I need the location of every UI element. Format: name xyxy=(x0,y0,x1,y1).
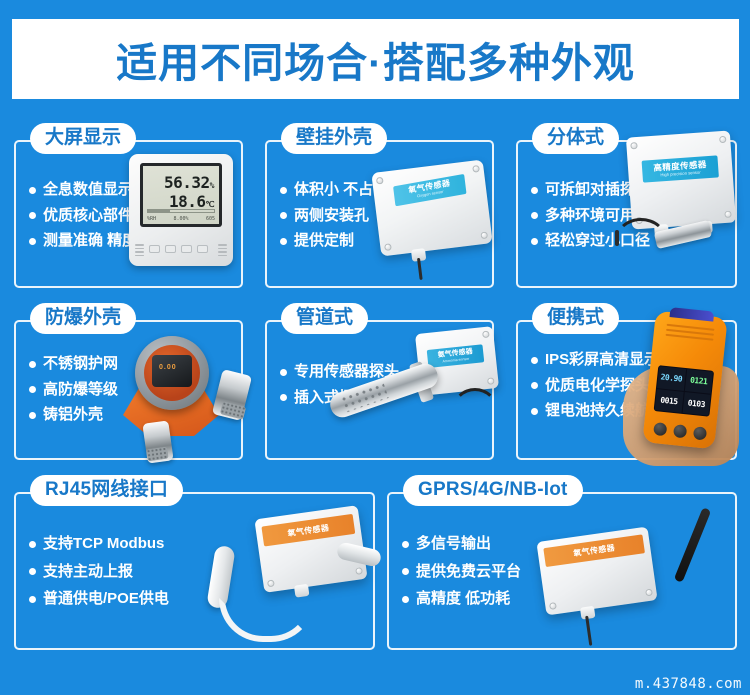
bullet-dot-icon xyxy=(280,394,287,401)
explosion-proof-body: 0.00 xyxy=(115,328,243,448)
connection-cord xyxy=(219,598,315,642)
bullet-dot-icon xyxy=(402,596,409,603)
bullet-dot-icon xyxy=(29,238,36,245)
list-item: 普通供电/POE供电 xyxy=(29,591,169,608)
bullet-dot-icon xyxy=(280,369,287,376)
bullet-list: 支持TCP Modbus 支持主动上报 普通供电/POE供电 xyxy=(29,536,169,608)
bullet-dot-icon xyxy=(280,187,287,194)
card-title: 壁挂外壳 xyxy=(281,123,387,154)
card-title: 大屏显示 xyxy=(30,123,136,154)
reading-cell: 20.90 xyxy=(657,366,686,390)
detector-top-cap xyxy=(669,307,714,322)
probe-vent-holes xyxy=(340,382,389,413)
detector-screen: 20.90 0121 0015 0103 xyxy=(654,365,715,417)
product-image-rj45-network-sensor: 氧气传感器 xyxy=(167,502,367,644)
bullet-label: 多种环境可用 xyxy=(545,208,635,225)
bullet-dot-icon xyxy=(531,357,538,364)
split-enclosure-body: 高精度传感器 High precision sensor xyxy=(626,130,736,229)
site-watermark: m.437848.com xyxy=(635,676,742,692)
bullet-dot-icon xyxy=(531,408,538,415)
detector-buttons xyxy=(653,422,707,440)
bullet-dot-icon xyxy=(531,238,538,245)
wireless-sensor-body: 氧气传感器 xyxy=(525,500,715,640)
screw-icon xyxy=(719,136,726,143)
screw-icon xyxy=(630,142,637,149)
feature-card-wall-mount: 壁挂外壳 体积小 不占空间 两侧安装孔 提供定制 氧气传感器 Oxygen se… xyxy=(265,140,494,288)
bullet-dot-icon xyxy=(29,361,36,368)
bullet-dot-icon xyxy=(29,187,36,194)
cable-wire xyxy=(585,616,592,646)
bullet-dot-icon xyxy=(29,541,36,548)
feature-card-large-display: 大屏显示 全息数值显示 优质核心部件 测量准确 精度高 56.32% 18.6℃ xyxy=(14,140,243,288)
bullet-label: 提供定制 xyxy=(294,233,354,250)
bullet-label: 优质核心部件 xyxy=(43,208,133,225)
rj45-sensor-body: 氧气传感器 xyxy=(167,502,367,644)
bullet-label: 高精度 低功耗 xyxy=(416,591,510,608)
wall-enclosure-body: 氧气传感器 Oxygen sensor xyxy=(371,159,492,256)
list-item: 高防爆等级 xyxy=(29,382,118,399)
bullet-dot-icon xyxy=(29,568,36,575)
bullet-dot-icon xyxy=(29,412,36,419)
feature-card-wireless: GPRS/4G/NB-Iot 多信号输出 提供免费云平台 高精度 低功耗 氧气传… xyxy=(387,492,737,650)
bullet-label: 普通供电/POE供电 xyxy=(43,591,169,608)
product-label: 高精度传感器 High precision sensor xyxy=(642,155,719,182)
product-image-portable-gas-detector: 20.90 0121 0015 0103 xyxy=(623,308,741,460)
portable-detector-body: 20.90 0121 0015 0103 xyxy=(623,308,741,460)
list-item: 铸铝外壳 xyxy=(29,407,118,424)
bullet-label: 多信号输出 xyxy=(416,536,491,553)
inner-ring: 0.00 xyxy=(144,345,200,401)
bullet-label: 支持主动上报 xyxy=(43,564,133,581)
page-title: 适用不同场合·搭配多种外观 xyxy=(116,29,635,89)
bullet-label: 高防爆等级 xyxy=(43,382,118,399)
card-title: 分体式 xyxy=(532,123,619,154)
list-item: 提供免费云平台 xyxy=(402,564,521,581)
bullet-label: 不锈钢护网 xyxy=(43,356,118,373)
product-label: 氧气传感器 xyxy=(261,514,355,547)
list-item: 不锈钢护网 xyxy=(29,356,118,373)
product-label-cn: 氧气传感器 xyxy=(287,522,330,539)
bullet-dot-icon xyxy=(29,596,36,603)
product-image-explosion-proof-housing: 0.00 xyxy=(115,328,243,448)
bullet-dot-icon xyxy=(29,212,36,219)
display-window: 0.00 xyxy=(152,355,192,387)
card-title: RJ45网线接口 xyxy=(30,475,183,506)
cable-wire xyxy=(615,230,619,246)
screw-icon xyxy=(482,330,490,338)
lcd-bezel: 56.32% 18.6℃ %RH 8.00% 605 xyxy=(140,163,222,227)
sensor-enclosure: 氧气传感器 xyxy=(536,527,657,616)
vent-left-icon xyxy=(135,244,144,258)
sensor-cable xyxy=(452,388,498,416)
bullet-dot-icon xyxy=(402,541,409,548)
feature-card-rj45: RJ45网线接口 支持TCP Modbus 支持主动上报 普通供电/POE供电 … xyxy=(14,492,375,650)
product-label: 氨气传感器 Ammonia sensor xyxy=(427,344,485,368)
humidity-reading: 56.32% xyxy=(164,173,214,192)
sensor-head: 0.00 xyxy=(135,336,209,410)
lcd-bargraph xyxy=(147,209,215,213)
cable-gland xyxy=(294,584,310,598)
antenna-icon xyxy=(674,507,712,583)
lcd-device-body: 56.32% 18.6℃ %RH 8.00% 605 xyxy=(129,154,233,266)
feature-card-split-type: 分体式 可拆卸对插探头 多种环境可用 轻松穿过小口径 高精度传感器 High p… xyxy=(516,140,737,288)
lcd-screen: 56.32% 18.6℃ %RH 8.00% 605 xyxy=(143,166,219,224)
screw-icon xyxy=(267,579,275,587)
bullet-label: 全息数值显示 xyxy=(43,182,133,199)
lcd-mini-labels: %RH 8.00% 605 xyxy=(147,216,215,222)
bullet-dot-icon xyxy=(280,212,287,219)
list-item: 支持主动上报 xyxy=(29,564,169,581)
bullet-list: 多信号输出 提供免费云平台 高精度 低功耗 xyxy=(402,536,521,608)
cable-wire xyxy=(417,258,423,280)
bullet-dot-icon xyxy=(531,212,538,219)
enclosure-face xyxy=(371,159,492,256)
device-keypad xyxy=(149,245,208,253)
bullet-label: 支持TCP Modbus xyxy=(43,536,164,553)
screw-icon xyxy=(487,377,495,385)
list-item: 支持TCP Modbus xyxy=(29,536,169,553)
product-label-cn: 氧气传感器 xyxy=(573,542,616,559)
reading-cell: 0121 xyxy=(684,369,713,393)
feature-card-duct-type: 管道式 专用传感器探头 插入式探测 氨气传感器 Ammonia sensor xyxy=(265,320,494,460)
feature-card-portable: 便携式 IPS彩屏高清显示 优质电化学探头 锂电池持久续航 20.90 0121… xyxy=(516,320,737,460)
product-image-split-type-sensor: 高精度传感器 High precision sensor xyxy=(629,134,733,226)
vent-right-icon xyxy=(218,244,227,258)
card-title: 便携式 xyxy=(532,303,619,334)
feature-card-explosion-proof: 防爆外壳 不锈钢护网 高防爆等级 铸铝外壳 0.00 xyxy=(14,320,243,460)
reading-cell: 0015 xyxy=(655,389,684,413)
product-image-duct-pipe-type-sensor: 氨气传感器 Ammonia sensor xyxy=(320,326,496,450)
bullet-dot-icon xyxy=(280,238,287,245)
product-image-large-screen-lcd-transmitter: 56.32% 18.6℃ %RH 8.00% 605 xyxy=(129,154,233,266)
screw-icon xyxy=(724,211,731,218)
bullet-list: 不锈钢护网 高防爆等级 铸铝外壳 xyxy=(29,356,118,424)
bullet-label: 提供免费云平台 xyxy=(416,564,521,581)
reading-cell: 0103 xyxy=(682,391,711,415)
header-banner: 适用不同场合·搭配多种外观 xyxy=(12,19,739,99)
screw-icon xyxy=(549,602,557,610)
bullet-dot-icon xyxy=(402,568,409,575)
display-value: 0.00 xyxy=(152,355,192,371)
screw-icon xyxy=(645,589,653,597)
bullet-dot-icon xyxy=(531,382,538,389)
list-item: 高精度 低功耗 xyxy=(402,591,521,608)
bullet-label: 两侧安装孔 xyxy=(294,208,369,225)
duct-sensor-body: 氨气传感器 Ammonia sensor xyxy=(320,326,496,450)
product-label: 氧气传感器 xyxy=(543,534,645,567)
bullet-dot-icon xyxy=(531,187,538,194)
speaker-grill-icon xyxy=(665,324,714,344)
list-item: 多信号输出 xyxy=(402,536,521,553)
product-image-wall-mount-enclosure: 氧气传感器 Oxygen sensor xyxy=(376,166,488,250)
product-image-gprs-wireless-sensor: 氧气传感器 xyxy=(525,500,715,640)
screw-icon xyxy=(355,567,363,575)
bullet-dot-icon xyxy=(29,386,36,393)
detector-shell: 20.90 0121 0015 0103 xyxy=(642,311,727,450)
bullet-label: 铸铝外壳 xyxy=(43,407,103,424)
